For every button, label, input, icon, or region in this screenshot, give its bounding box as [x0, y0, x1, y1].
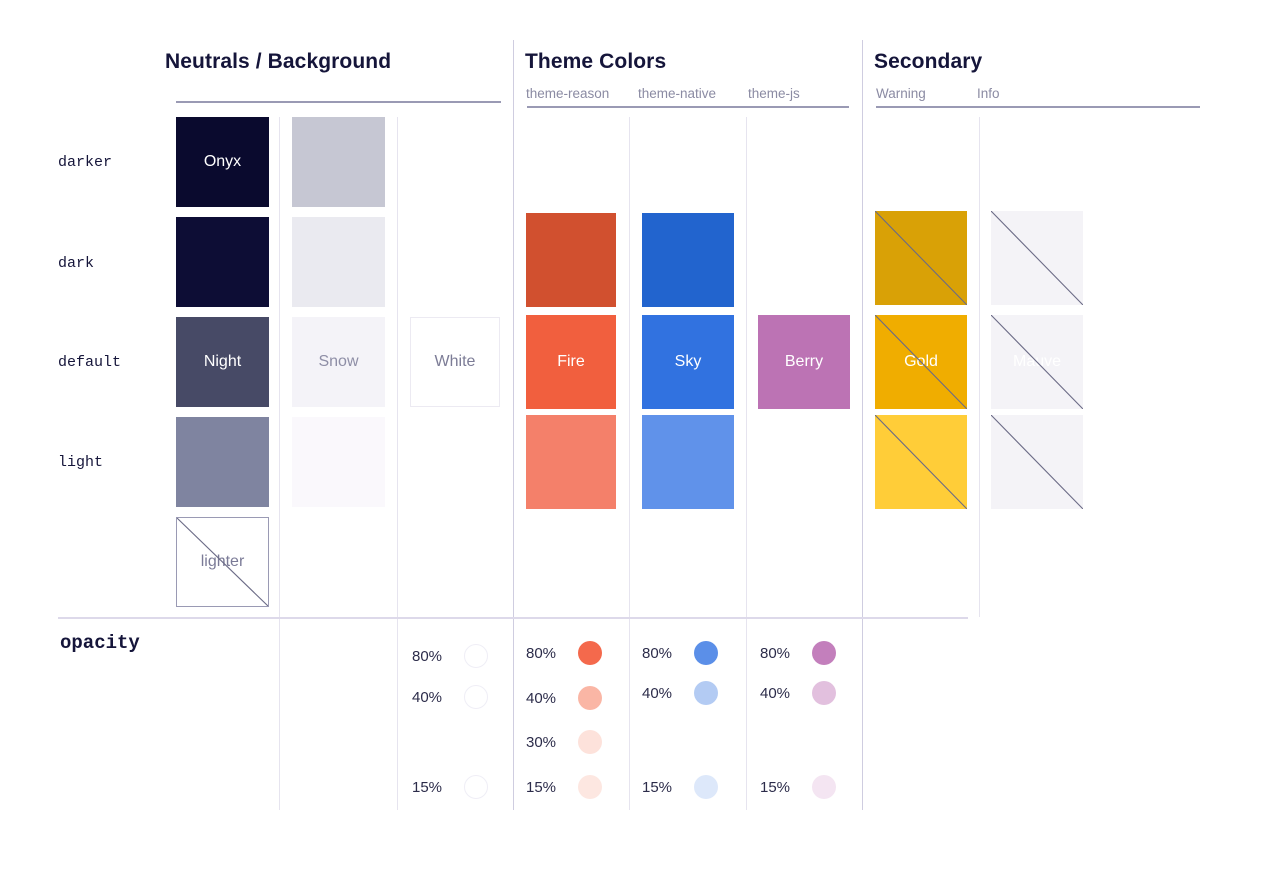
section-title-neutrals: Neutrals / Background — [165, 50, 391, 74]
row-label-default: default — [58, 354, 121, 371]
opacity-pct: 15% — [642, 779, 686, 796]
swatch-label-lighter: lighter — [201, 553, 245, 571]
swatch-night-default[interactable]: Night — [176, 317, 269, 407]
opacity-pct: 30% — [526, 734, 570, 751]
opacity-dot — [578, 775, 602, 799]
strikethrough-icon — [991, 415, 1083, 509]
swatch-snow-dark[interactable] — [292, 217, 385, 307]
subtitle-theme-native: theme-native — [638, 86, 748, 101]
opacity-fire-40[interactable]: 40% — [526, 686, 602, 710]
opacity-section-title: opacity — [60, 632, 140, 654]
opacity-berry-80[interactable]: 80% — [760, 641, 836, 665]
swatch-fire-dark[interactable] — [526, 213, 616, 307]
opacity-fire-80[interactable]: 80% — [526, 641, 602, 665]
opacity-pct: 15% — [526, 779, 570, 796]
opacity-berry-40[interactable]: 40% — [760, 681, 836, 705]
opacity-dot — [464, 775, 488, 799]
section-title-theme: Theme Colors — [525, 50, 666, 74]
swatch-label-night: Night — [204, 353, 241, 371]
column-separator-4 — [629, 117, 630, 810]
opacity-pct: 80% — [526, 645, 570, 662]
column-separator-2 — [397, 117, 398, 810]
swatch-label-white: White — [435, 353, 476, 371]
opacity-fire-15[interactable]: 15% — [526, 775, 602, 799]
strikethrough-icon — [991, 211, 1083, 305]
subtitle-warning: Warning — [876, 86, 977, 101]
opacity-pct: 15% — [760, 779, 804, 796]
opacity-white-15[interactable]: 15% — [412, 775, 488, 799]
opacity-dot — [694, 641, 718, 665]
strikethrough-icon — [875, 415, 967, 509]
opacity-dot — [578, 641, 602, 665]
section-subtitles-theme: theme-reason theme-native theme-js — [526, 86, 856, 101]
opacity-pct: 15% — [412, 779, 456, 796]
swatch-label-gold: Gold — [904, 353, 938, 371]
row-label-darker: darker — [58, 154, 112, 171]
opacity-white-40[interactable]: 40% — [412, 685, 488, 709]
opacity-dot — [694, 681, 718, 705]
swatch-mauve-dark[interactable] — [991, 211, 1083, 305]
row-label-light: light — [58, 454, 103, 471]
section-rule-secondary — [876, 106, 1200, 108]
subtitle-info: Info — [977, 86, 1000, 101]
opacity-dot — [812, 681, 836, 705]
swatch-fire-default[interactable]: Fire — [526, 315, 616, 409]
subtitle-theme-js: theme-js — [748, 86, 800, 101]
opacity-white-80[interactable]: 80% — [412, 644, 488, 668]
opacity-dot — [464, 685, 488, 709]
opacity-divider — [58, 617, 968, 619]
swatch-snow-light[interactable] — [292, 417, 385, 507]
opacity-dot — [694, 775, 718, 799]
strikethrough-icon — [875, 211, 967, 305]
opacity-dot — [578, 686, 602, 710]
opacity-fire-30[interactable]: 30% — [526, 730, 602, 754]
section-rule-neutrals — [176, 101, 501, 103]
opacity-pct: 40% — [642, 685, 686, 702]
opacity-dot — [578, 730, 602, 754]
opacity-pct: 80% — [412, 648, 456, 665]
opacity-pct: 40% — [526, 690, 570, 707]
swatch-label-mauve: Mauve — [1013, 353, 1061, 371]
swatch-sky-light[interactable] — [642, 415, 734, 509]
row-label-dark: dark — [58, 255, 94, 272]
subtitle-theme-reason: theme-reason — [526, 86, 638, 101]
column-separator-7 — [979, 117, 980, 617]
swatch-gold-dark[interactable] — [875, 211, 967, 305]
swatch-label-fire: Fire — [557, 353, 585, 371]
opacity-dot — [464, 644, 488, 668]
opacity-dot — [812, 641, 836, 665]
swatch-night-lighter-unavailable[interactable]: lighter — [176, 517, 269, 607]
column-separator-5 — [746, 117, 747, 810]
swatch-label-snow: Snow — [318, 353, 358, 371]
section-title-secondary: Secondary — [874, 50, 982, 74]
swatch-label-berry: Berry — [785, 353, 823, 371]
swatch-label-onyx: Onyx — [204, 153, 241, 171]
swatch-snow-default[interactable]: Snow — [292, 317, 385, 407]
opacity-dot — [812, 775, 836, 799]
opacity-sky-15[interactable]: 15% — [642, 775, 718, 799]
opacity-pct: 40% — [412, 689, 456, 706]
column-separator-1 — [279, 117, 280, 810]
swatch-night-light[interactable] — [176, 417, 269, 507]
swatch-mauve-light[interactable] — [991, 415, 1083, 509]
swatch-sky-dark[interactable] — [642, 213, 734, 307]
swatch-onyx-darker[interactable]: Onyx — [176, 117, 269, 207]
opacity-pct: 40% — [760, 685, 804, 702]
swatch-fire-light[interactable] — [526, 415, 616, 509]
swatch-onyx-dark[interactable] — [176, 217, 269, 307]
opacity-sky-40[interactable]: 40% — [642, 681, 718, 705]
palette-canvas: Neutrals / Background Theme Colors theme… — [0, 0, 1280, 872]
opacity-pct: 80% — [642, 645, 686, 662]
swatch-gold-default[interactable]: Gold — [875, 315, 967, 409]
swatch-white-default[interactable]: White — [410, 317, 500, 407]
swatch-sky-default[interactable]: Sky — [642, 315, 734, 409]
column-separator-6 — [862, 40, 863, 810]
swatch-label-sky: Sky — [675, 353, 702, 371]
opacity-pct: 80% — [760, 645, 804, 662]
swatch-mauve-default[interactable]: Mauve — [991, 315, 1083, 409]
swatch-gold-light[interactable] — [875, 415, 967, 509]
column-separator-3 — [513, 40, 514, 810]
opacity-berry-15[interactable]: 15% — [760, 775, 836, 799]
opacity-sky-80[interactable]: 80% — [642, 641, 718, 665]
section-rule-theme — [527, 106, 849, 108]
swatch-berry-default[interactable]: Berry — [758, 315, 850, 409]
section-subtitles-secondary: Warning Info — [876, 86, 1196, 101]
swatch-snow-darker[interactable] — [292, 117, 385, 207]
